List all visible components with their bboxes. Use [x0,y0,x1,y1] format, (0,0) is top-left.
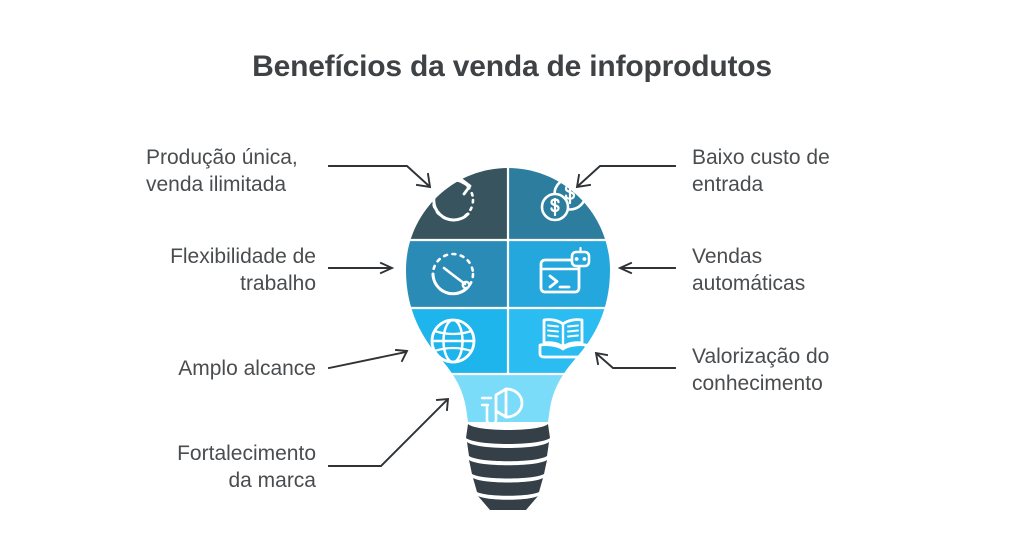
lightbulb-graphic [398,160,618,510]
segment-top-left [398,160,508,240]
label-vendas-automaticas: Vendas automáticas [692,243,912,297]
connector-flexibilidade [329,263,392,273]
bulb-screw-base [466,424,550,510]
label-amplo-alcance: Amplo alcance [120,355,316,382]
label-producao-unica: Produção única, venda ilimitada [146,144,346,198]
base-band-3 [469,460,547,479]
infographic-canvas: Benefícios da venda de infoprodutos [0,0,1024,543]
label-flexibilidade: Flexibilidade de trabalho [120,243,316,297]
label-valorizacao: Valorização do conhecimento [692,343,922,397]
label-baixo-custo: Baixo custo de entrada [692,144,912,198]
base-band-1 [466,424,550,444]
label-fortalecimento-marca: Fortalecimento da marca [120,440,316,494]
base-band-4 [473,478,543,496]
base-band-2 [467,442,549,461]
segment-mid-right [508,240,618,308]
connector-vendas-automaticas [620,263,675,273]
segment-neck [398,374,618,434]
connector-amplo-alcance [329,350,407,368]
base-tip [478,496,538,510]
page-title: Benefícios da venda de infoprodutos [0,50,1024,84]
